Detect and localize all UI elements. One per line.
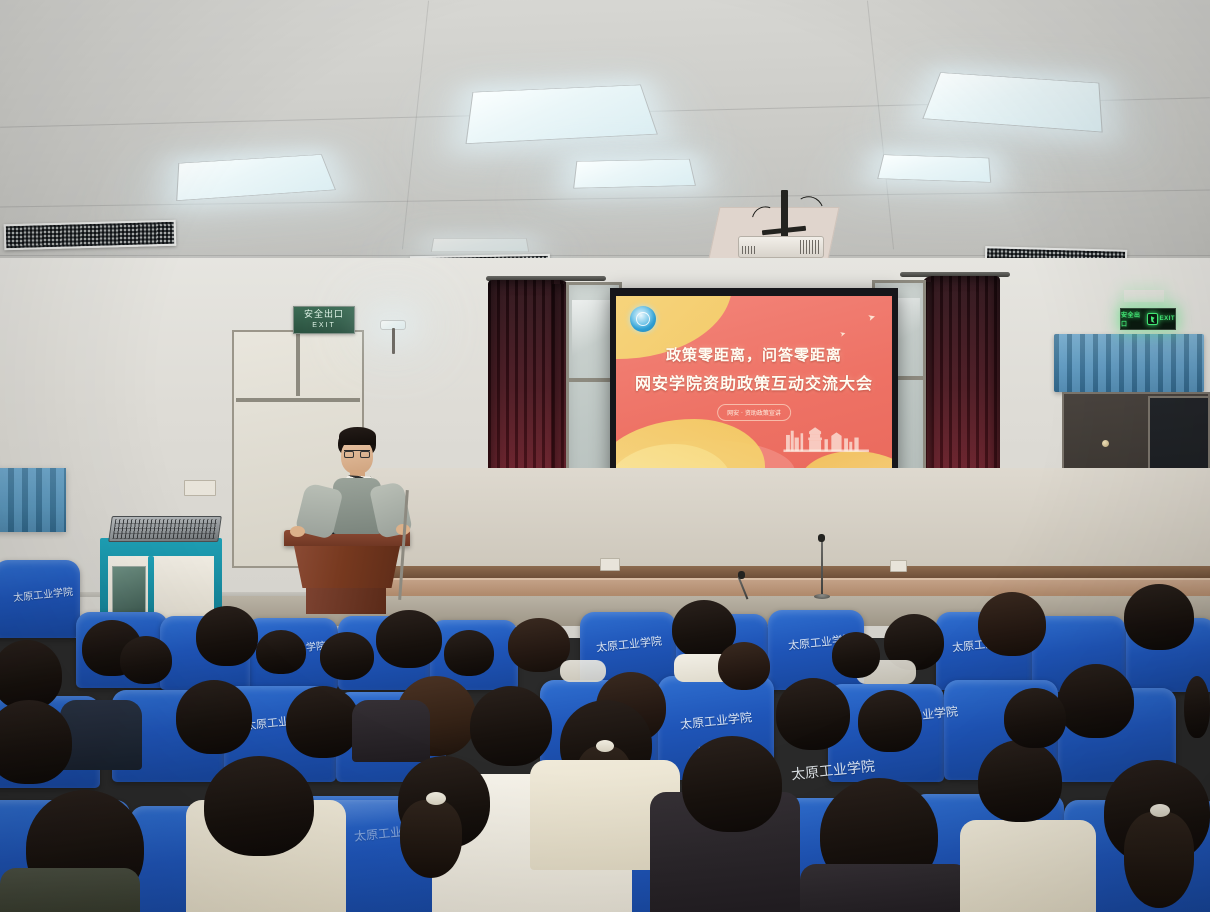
exit-sign-led-english: EXIT [1160, 316, 1175, 322]
ceiling-light-panel [573, 159, 696, 189]
audience-head [120, 636, 172, 684]
audience-head [1124, 584, 1194, 650]
audience-head [376, 610, 442, 668]
mixer-controls [113, 519, 218, 539]
audience-head [204, 756, 314, 856]
stage-edge-trim [352, 566, 1210, 578]
wall-socket [890, 560, 907, 572]
audience-head [682, 736, 782, 832]
audience-head [470, 686, 552, 766]
audio-mixer [108, 516, 222, 542]
speaker-hair-top [339, 427, 376, 445]
audience-head [286, 686, 360, 758]
audience-head [978, 740, 1062, 822]
eyeglasses-icon [344, 450, 370, 456]
seat [0, 560, 80, 638]
presentation-slide: ➤ ➤ [616, 296, 892, 472]
bird-icon: ➤ [867, 311, 877, 324]
auditorium-photo: 安全出口 EXIT ➤ ➤ [0, 0, 1210, 912]
door-knob-icon [1102, 440, 1109, 447]
exit-sign-wall: 安全出口 EXIT [293, 306, 355, 334]
slide-subtitle: 网安 · 资助政策宣讲 [717, 404, 791, 421]
audience-head [196, 606, 258, 666]
audience-coat [960, 820, 1096, 912]
speaker-hand-left [290, 526, 305, 537]
ceiling-light-panel [465, 85, 657, 144]
audience-head [1058, 664, 1134, 738]
hvac-vent [4, 220, 177, 250]
projector-vent [742, 246, 756, 254]
audience-head [776, 678, 850, 750]
projection-screen: ➤ ➤ [616, 296, 892, 472]
projector-vent [800, 240, 820, 254]
ponytail [1124, 812, 1194, 908]
wall-socket [600, 558, 620, 571]
audience-head [832, 632, 880, 678]
slide-title-line-1: 政策零距离，问答零距离 [616, 344, 892, 365]
audience-head [256, 630, 306, 674]
lectern-base [306, 588, 386, 614]
exit-sign-english-label: EXIT [312, 322, 336, 329]
exit-sign-led-chinese: 安全出口 [1121, 310, 1145, 328]
wall-socket [184, 480, 216, 496]
exit-sign-reflection [1124, 290, 1164, 302]
stage-front-wall [356, 468, 1210, 572]
stage-microphone-base [814, 594, 830, 599]
left-window-curtain [0, 468, 66, 532]
audience-coat [800, 864, 970, 912]
university-emblem-icon [630, 306, 656, 332]
right-window-valance [1054, 334, 1204, 392]
audience-head [858, 690, 922, 752]
audience-head [176, 680, 252, 754]
stage-microphone-head [738, 571, 745, 579]
stage-microphone-stem [821, 540, 823, 598]
bird-icon: ➤ [839, 329, 847, 338]
stage-microphone-head [818, 534, 825, 542]
audience-head [1004, 688, 1066, 748]
audience-coat [60, 700, 142, 770]
audience-head [444, 630, 494, 676]
hair-tie [426, 792, 446, 805]
hair-tie [596, 740, 614, 752]
ponytail [400, 800, 462, 878]
audience-head [718, 642, 770, 690]
seat-headrest [560, 660, 606, 682]
av-cabinet-window [112, 566, 146, 614]
audience-head [1184, 676, 1210, 738]
city-skyline-illustration [771, 423, 881, 453]
audience-head [978, 592, 1046, 656]
audience-coat [0, 868, 140, 912]
audience-coat [352, 700, 430, 762]
ceiling-light-panel [877, 154, 991, 182]
exit-sign-chinese-label: 安全出口 [304, 311, 344, 320]
exit-sign-illuminated: 安全出口 EXIT [1120, 308, 1176, 330]
lectern-body [294, 546, 400, 588]
light-arm [392, 328, 395, 354]
hair-tie [1150, 804, 1170, 817]
running-man-icon [1147, 313, 1158, 325]
ceiling-light-panel [431, 238, 530, 252]
slide-title-line-2: 网安学院资助政策互动交流大会 [616, 370, 892, 394]
audience-head [320, 632, 374, 680]
